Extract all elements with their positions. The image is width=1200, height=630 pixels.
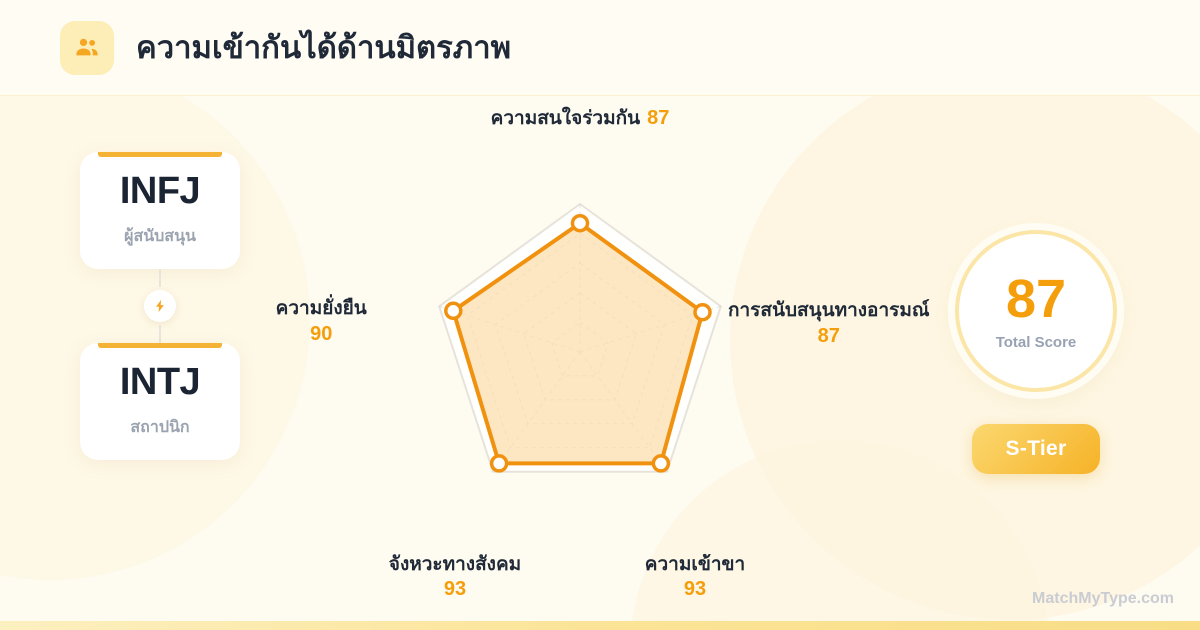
compatibility-card: ความเข้ากันได้ด้านมิตรภาพ INFJ ผู้สนับสน… bbox=[0, 0, 1200, 630]
watermark: MatchMyType.com bbox=[1032, 590, 1174, 608]
radar-axis-value: 87 bbox=[818, 325, 840, 347]
radar-axis-3: ความเข้าขา93 bbox=[645, 553, 745, 603]
radar-axis-value: 90 bbox=[310, 323, 332, 345]
total-score-caption: Total Score bbox=[996, 334, 1077, 351]
total-score-circle: 87 Total Score bbox=[955, 230, 1117, 392]
type-name-second: สถาปนิก bbox=[90, 415, 230, 440]
people-icon bbox=[60, 21, 114, 75]
bottom-accent-bar bbox=[0, 621, 1200, 630]
connector-line-top bbox=[159, 269, 161, 287]
header-bar: ความเข้ากันได้ด้านมิตรภาพ bbox=[0, 0, 1200, 96]
radar-axis-4: จังหวะทางสังคม93 bbox=[389, 553, 521, 603]
radar-axis-value: 93 bbox=[444, 579, 466, 601]
radar-axis-1: ความสนใจร่วมกัน87 bbox=[491, 105, 670, 131]
radar-axis-label: ความเข้าขา bbox=[645, 554, 745, 575]
type-card-second[interactable]: INTJ สถาปนิก bbox=[80, 343, 240, 460]
total-score-value: 87 bbox=[1006, 272, 1066, 326]
type-card-first[interactable]: INFJ ผู้สนับสนุน bbox=[80, 152, 240, 269]
radar-axis-label: ความยั่งยืน bbox=[276, 298, 367, 319]
page-title: ความเข้ากันได้ด้านมิตรภาพ bbox=[136, 29, 511, 66]
type-code-first: INFJ bbox=[90, 172, 230, 212]
radar-axis-label: จังหวะทางสังคม bbox=[389, 554, 521, 575]
radar-axis-2: การสนับสนุนทางอารมณ์87 bbox=[728, 299, 930, 349]
radar-axis-label: การสนับสนุนทางอารมณ์ bbox=[728, 300, 930, 321]
type-connector bbox=[80, 269, 240, 343]
type-code-second: INTJ bbox=[90, 363, 230, 403]
type-name-first: ผู้สนับสนุน bbox=[90, 224, 230, 249]
radar-axis-label: ความสนใจร่วมกัน bbox=[491, 108, 640, 129]
radar-axis-5: ความยั่งยืน90 bbox=[276, 297, 367, 347]
total-score-panel: 87 Total Score S-Tier bbox=[944, 230, 1128, 474]
radar-axis-value: 87 bbox=[647, 107, 669, 129]
connector-line-bottom bbox=[159, 325, 161, 343]
radar-chart-svg bbox=[300, 110, 860, 610]
lightning-bolt-icon bbox=[144, 290, 176, 322]
radar-chart: ความสนใจร่วมกัน87การสนับสนุนทางอารมณ์87ค… bbox=[300, 110, 860, 610]
tier-badge[interactable]: S-Tier bbox=[972, 424, 1101, 474]
type-pair: INFJ ผู้สนับสนุน INTJ สถาปนิก bbox=[80, 152, 240, 460]
radar-axis-value: 93 bbox=[684, 579, 706, 601]
